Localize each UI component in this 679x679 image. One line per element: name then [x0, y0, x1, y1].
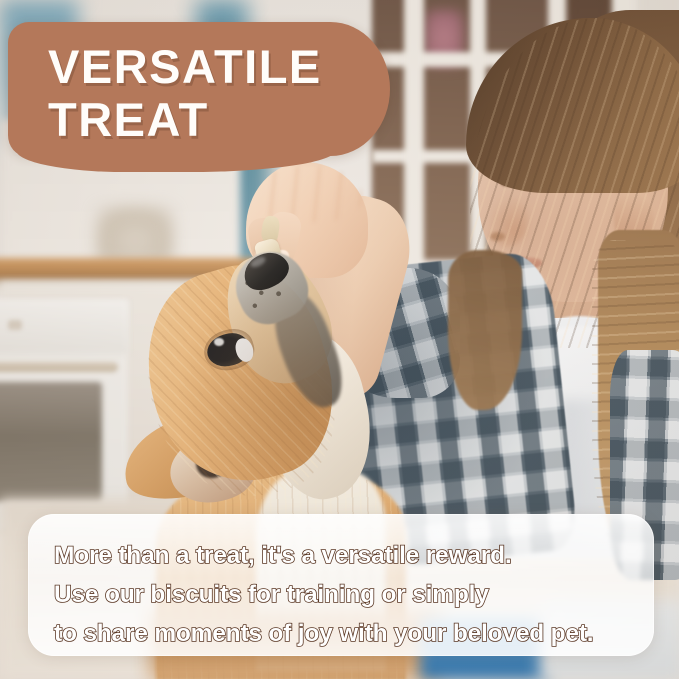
oven-door-glass [0, 382, 102, 502]
caption-text: More than a treat, it's a versatile rewa… [54, 536, 654, 653]
oven-handle [0, 362, 118, 372]
knuckles [252, 166, 362, 222]
headline-text: VERSATILE TREAT [48, 40, 378, 146]
oven-knob [8, 320, 22, 330]
hair-front-strand [448, 250, 522, 410]
product-ad-image: VERSATILE TREAT More than a treat, it's … [0, 0, 679, 679]
counter-object [96, 206, 174, 264]
